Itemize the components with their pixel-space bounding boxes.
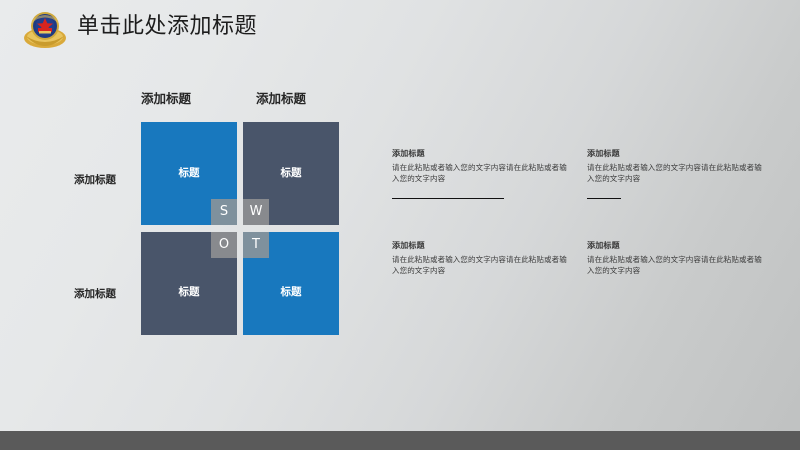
content-block-body: 请在此粘贴或者输入您的文字内容请在此粘贴或者输入您的文字内容: [392, 254, 572, 276]
content-block-divider: [392, 198, 504, 199]
matrix-row-label-2: 添加标题: [74, 286, 116, 301]
slide-footer-bar: [0, 431, 800, 450]
swot-matrix: 添加标题 添加标题 添加标题 添加标题 标题 标题 标题 标题 S W O T: [60, 88, 360, 343]
china-police-emblem-icon: [22, 8, 68, 50]
content-block-body: 请在此粘贴或者输入您的文字内容请在此粘贴或者输入您的文字内容: [587, 254, 767, 276]
content-block-title: 添加标题: [587, 148, 767, 159]
presentation-slide: 单击此处添加标题 添加标题 添加标题 添加标题 添加标题 标题 标题 标题 标题…: [0, 0, 800, 450]
quadrant-label-s: 标题: [141, 165, 237, 180]
slide-header: 单击此处添加标题: [0, 0, 800, 57]
matrix-column-header-1: 添加标题: [141, 88, 191, 107]
quadrant-label-w: 标题: [243, 165, 339, 180]
content-block-body: 请在此粘贴或者输入您的文字内容请在此粘贴或者输入您的文字内容: [392, 162, 572, 184]
content-block-title: 添加标题: [587, 240, 767, 251]
swot-badge-s[interactable]: S: [211, 199, 237, 225]
page-title: 单击此处添加标题: [77, 12, 257, 42]
matrix-row-label-1: 添加标题: [74, 172, 116, 187]
content-block-4: 添加标题 请在此粘贴或者输入您的文字内容请在此粘贴或者输入您的文字内容: [587, 240, 767, 276]
quadrant-label-t: 标题: [243, 284, 339, 299]
content-block-1: 添加标题 请在此粘贴或者输入您的文字内容请在此粘贴或者输入您的文字内容: [392, 148, 572, 199]
quadrant-label-o: 标题: [141, 284, 237, 299]
swot-badge-w[interactable]: W: [243, 199, 269, 225]
content-block-title: 添加标题: [392, 240, 572, 251]
content-block-title: 添加标题: [392, 148, 572, 159]
matrix-column-header-2: 添加标题: [256, 88, 306, 107]
swot-badge-o[interactable]: O: [211, 232, 237, 258]
content-block-divider: [587, 198, 621, 199]
swot-badge-t[interactable]: T: [243, 232, 269, 258]
content-block-body: 请在此粘贴或者输入您的文字内容请在此粘贴或者输入您的文字内容: [587, 162, 767, 184]
content-block-2: 添加标题 请在此粘贴或者输入您的文字内容请在此粘贴或者输入您的文字内容: [587, 148, 767, 199]
content-block-3: 添加标题 请在此粘贴或者输入您的文字内容请在此粘贴或者输入您的文字内容: [392, 240, 572, 276]
